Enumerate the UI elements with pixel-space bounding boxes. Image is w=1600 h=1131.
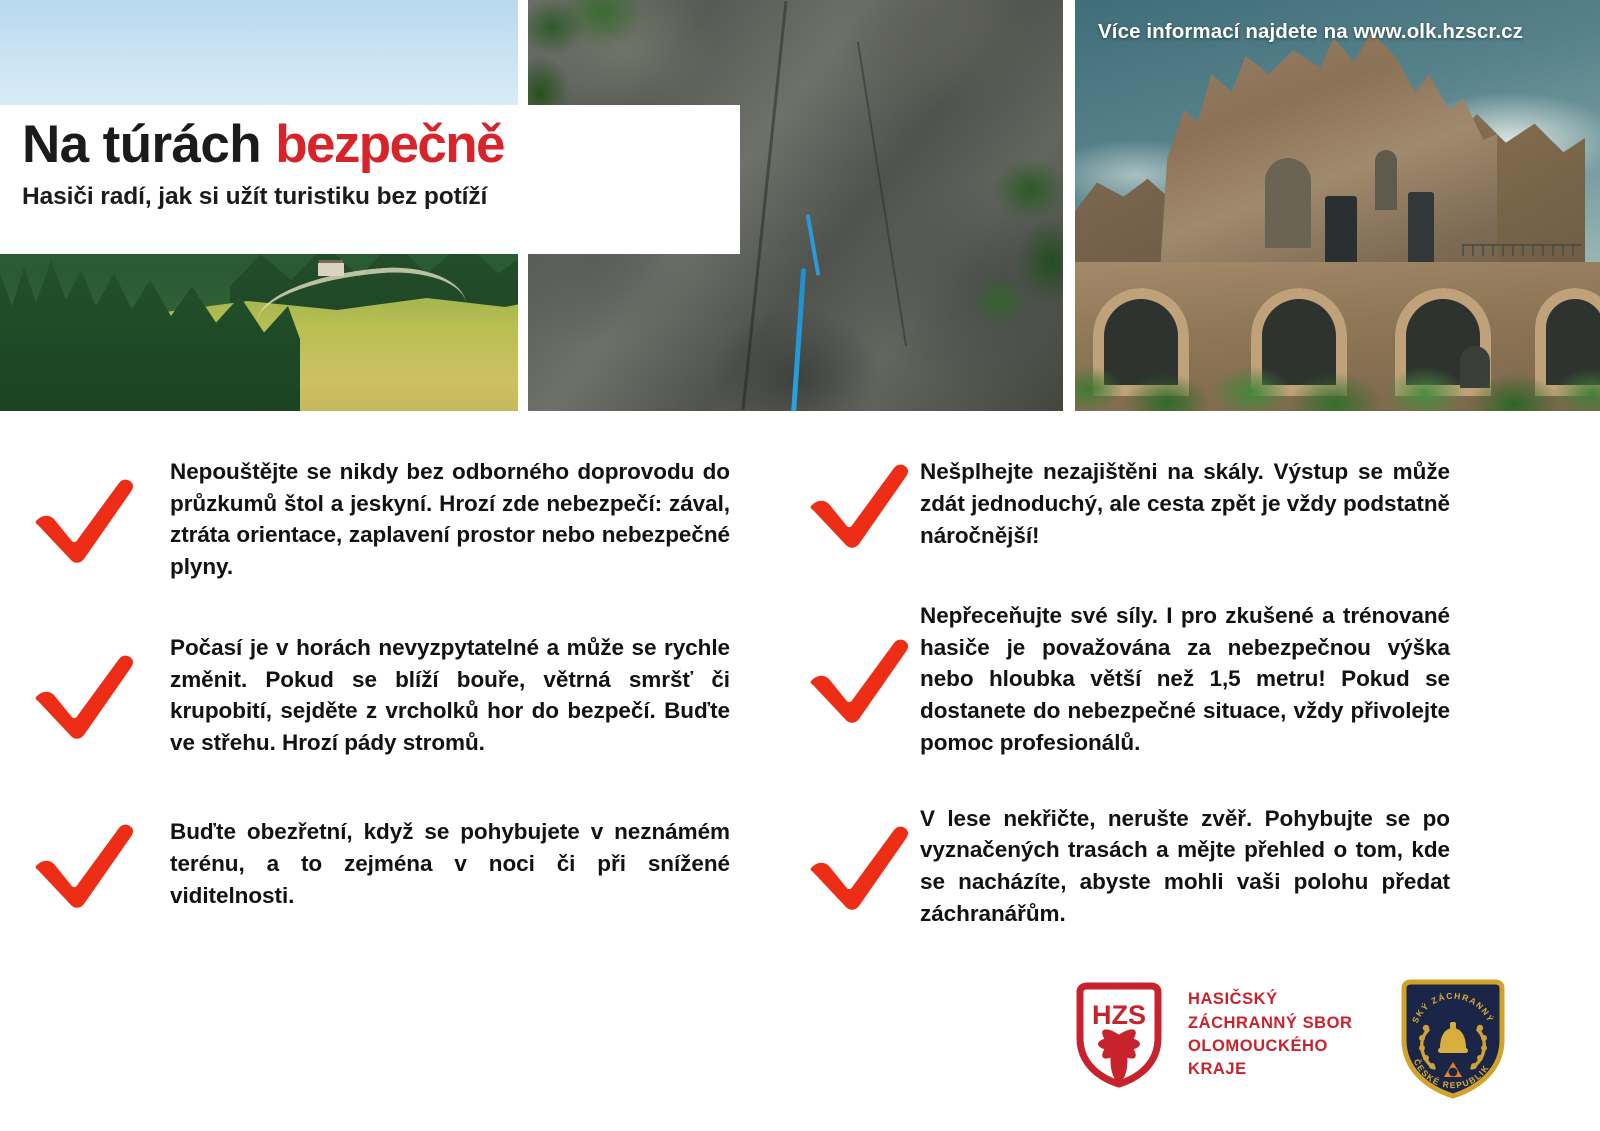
checkmark-icon — [800, 629, 920, 729]
ruin-window — [1375, 150, 1397, 210]
tip-text: V lese nekřičte, nerušte zvěř. Pohybujte… — [920, 803, 1600, 930]
checkmark-icon — [800, 816, 920, 916]
checkmark-icon — [0, 469, 170, 569]
safety-tips-section: Nepouštějte se nikdy bez odborného dopro… — [0, 411, 1600, 971]
title-black-part: Na túrách — [22, 115, 261, 174]
hzs-name-line-4: KRAJE — [1188, 1058, 1352, 1081]
tip-text: Nepřeceňujte své síly. I pro zkušené a t… — [920, 600, 1600, 759]
checkmark-icon — [800, 454, 920, 554]
title-accent-part: bezpečně — [275, 115, 504, 174]
hzs-olomouc-logo: HZS HASIČSKÝ ZÁCHRANNÝ SBOR OLOMOUCKÉHO … — [1072, 982, 1352, 1088]
vegetation-right — [913, 150, 1063, 330]
hzs-cr-badge-icon: HASIČSKÝ ZÁCHRANNÝ SBOR ČESKÉ REPUBLIKY — [1398, 978, 1508, 1100]
ruin-foliage — [1075, 340, 1600, 411]
poster-title: Na túrách bezpečně — [22, 117, 718, 172]
tip-text: Nešplhejte nezajištěni na skály. Výstup … — [920, 456, 1600, 551]
hzs-name-line-2: ZÁCHRANNÝ SBOR — [1188, 1012, 1352, 1035]
poster-subtitle: Hasiči radí, jak si užít turistiku bez p… — [22, 183, 718, 211]
footer-logos: HZS HASIČSKÝ ZÁCHRANNÝ SBOR OLOMOUCKÉHO … — [0, 960, 1600, 1131]
hzs-monogram: HZS — [1092, 1000, 1146, 1030]
hzs-shield-flower-icon: HZS — [1072, 982, 1166, 1088]
ruin-doorway-second — [1408, 192, 1434, 264]
ruin-niche — [1265, 158, 1311, 248]
tip-text: Počasí je v horách nevyzpytatelné a může… — [170, 632, 800, 759]
ruin-railing — [1462, 244, 1582, 256]
stone-ruins-photo — [1075, 0, 1600, 411]
tip-item: Počasí je v horách nevyzpytatelné a může… — [0, 632, 800, 759]
tip-text: Buďte obezřetní, když se pohybujete v ne… — [170, 816, 800, 911]
tip-item: Nepřeceňujte své síly. I pro zkušené a t… — [800, 600, 1600, 759]
ruin-arcade — [1075, 262, 1600, 411]
tip-item: V lese nekřičte, nerušte zvěř. Pohybujte… — [800, 803, 1600, 930]
hzs-name-line-1: HASIČSKÝ — [1188, 988, 1352, 1011]
tip-text: Nepouštějte se nikdy bez odborného dopro… — [170, 456, 800, 583]
title-block: Na túrách bezpečně Hasiči radí, jak si u… — [0, 105, 740, 254]
mountain-hut — [318, 263, 344, 276]
poster-root: Více informací najdete na www.olk.hzscr.… — [0, 0, 1600, 1131]
tip-item: Buďte obezřetní, když se pohybujete v ne… — [0, 814, 800, 914]
tip-item: Nešplhejte nezajištěni na skály. Výstup … — [800, 454, 1600, 554]
tip-item: Nepouštějte se nikdy bez odborného dopro… — [0, 456, 800, 583]
website-info-line: Více informací najdete na www.olk.hzscr.… — [1098, 20, 1578, 44]
hzs-logo-wordmark: HASIČSKÝ ZÁCHRANNÝ SBOR OLOMOUCKÉHO KRAJ… — [1188, 988, 1352, 1082]
checkmark-icon — [0, 645, 170, 745]
tips-column-left: Nepouštějte se nikdy bez odborného dopro… — [0, 411, 800, 914]
tips-column-right: Nešplhejte nezajištěni na skály. Výstup … — [800, 411, 1600, 929]
hzs-name-line-3: OLOMOUCKÉHO — [1188, 1035, 1352, 1058]
checkmark-icon — [0, 814, 170, 914]
